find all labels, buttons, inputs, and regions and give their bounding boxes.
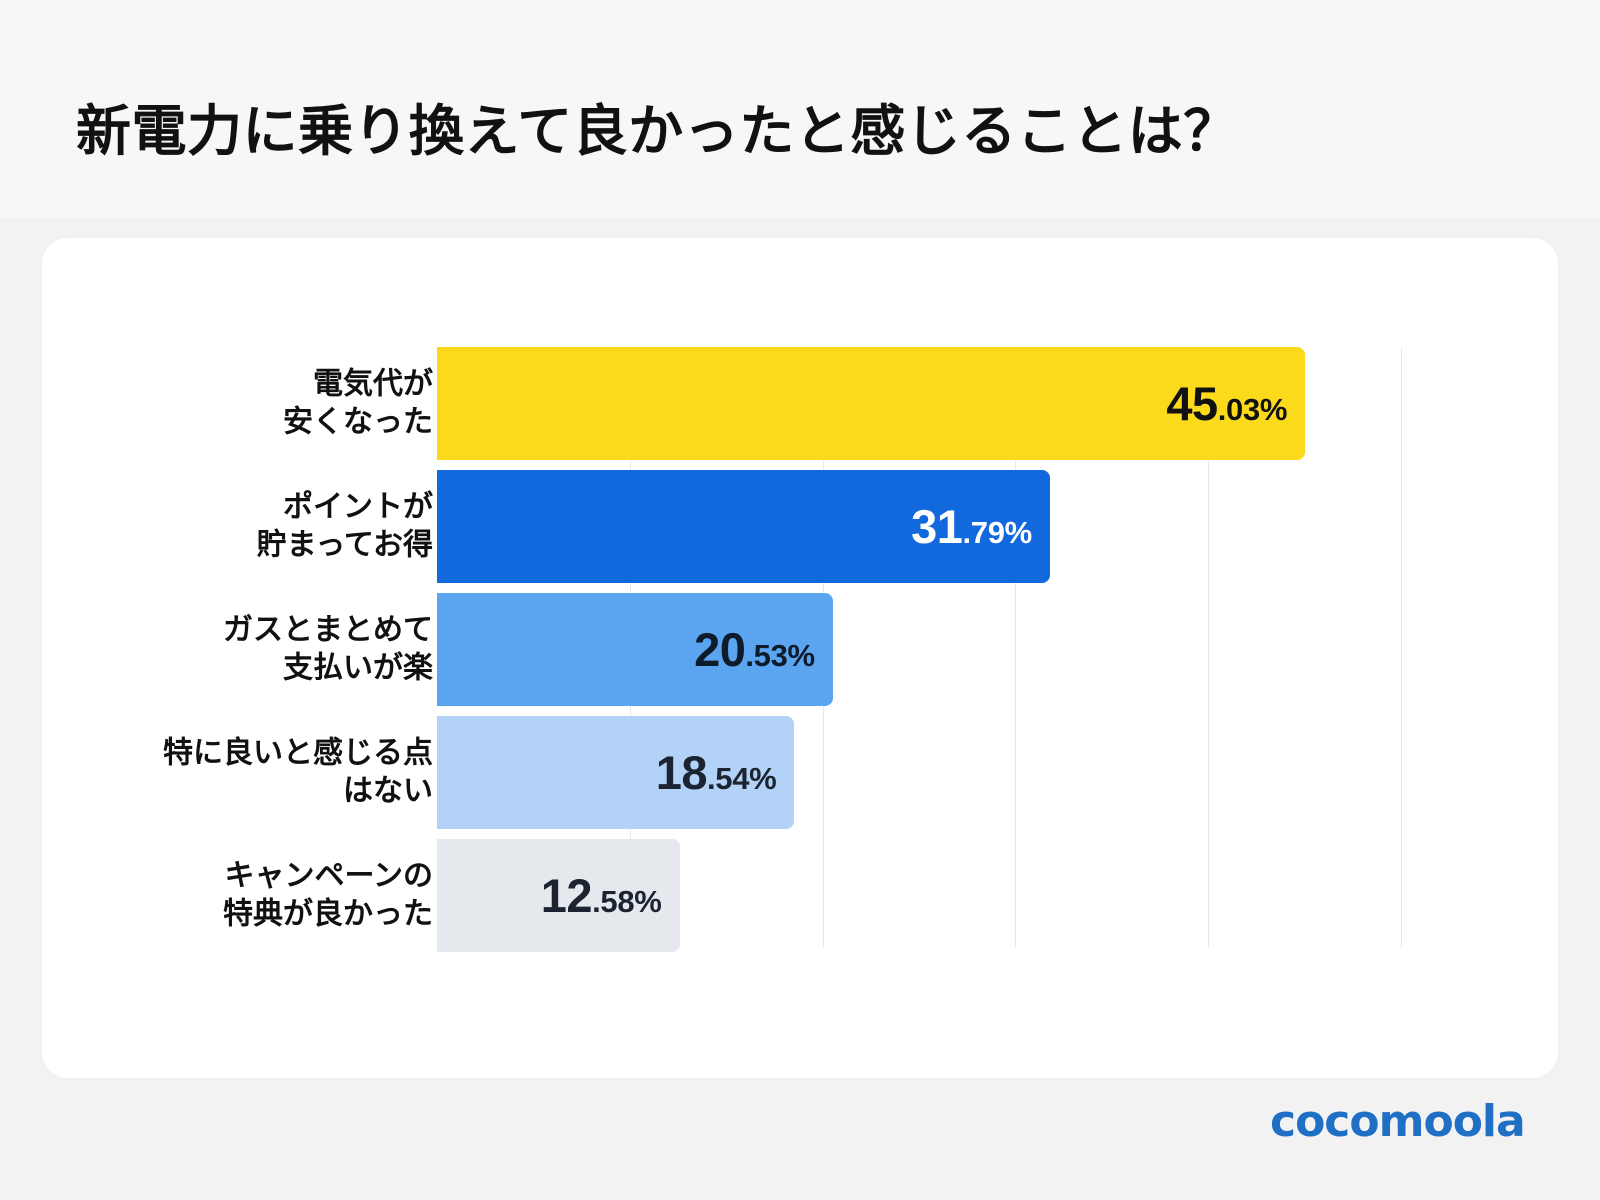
- brand-logo: cocomoola: [1270, 1096, 1525, 1147]
- bar-value-decimal: .58%: [592, 884, 661, 920]
- bar: 45.03%: [437, 347, 1305, 460]
- category-label: ポイントが 貯まってお得: [0, 488, 433, 565]
- bar-value-integer: 31: [911, 499, 962, 554]
- bar: 20.53%: [437, 593, 833, 706]
- category-label: キャンペーンの 特典が良かった: [0, 857, 433, 934]
- bar-value-label: 45.03%: [1166, 376, 1305, 431]
- bar-chart: 電気代が 安くなった45.03%ポイントが 貯まってお得31.79%ガスとまとめ…: [42, 238, 1558, 1078]
- bar-value-integer: 18: [656, 745, 707, 800]
- bar-value-integer: 12: [541, 868, 592, 923]
- bar-value-integer: 20: [694, 622, 745, 677]
- header-band: 新電力に乗り換えて良かったと感じることは？: [0, 0, 1600, 218]
- bar-row: キャンペーンの 特典が良かった12.58%: [42, 839, 1558, 952]
- bar-row: ポイントが 貯まってお得31.79%: [42, 470, 1558, 583]
- bar-value-label: 12.58%: [541, 868, 680, 923]
- bar: 12.58%: [437, 839, 680, 952]
- bar-value-integer: 45: [1166, 376, 1217, 431]
- bar-value-label: 20.53%: [694, 622, 833, 677]
- bar-value-decimal: .03%: [1218, 392, 1287, 428]
- category-label: ガスとまとめて 支払いが楽: [0, 611, 433, 688]
- category-label: 電気代が 安くなった: [0, 365, 433, 442]
- bar-row: 電気代が 安くなった45.03%: [42, 347, 1558, 460]
- chart-card: 電気代が 安くなった45.03%ポイントが 貯まってお得31.79%ガスとまとめ…: [42, 238, 1558, 1078]
- category-label: 特に良いと感じる点 はない: [0, 734, 433, 811]
- bar: 18.54%: [437, 716, 794, 829]
- bar: 31.79%: [437, 470, 1050, 583]
- bar-row: 特に良いと感じる点 はない18.54%: [42, 716, 1558, 829]
- bar-value-decimal: .53%: [745, 638, 814, 674]
- bar-value-decimal: .79%: [962, 515, 1031, 551]
- bar-row: ガスとまとめて 支払いが楽20.53%: [42, 593, 1558, 706]
- bar-value-label: 31.79%: [911, 499, 1050, 554]
- bar-value-label: 18.54%: [656, 745, 795, 800]
- bar-value-decimal: .54%: [707, 761, 776, 797]
- page-title: 新電力に乗り換えて良かったと感じることは？: [76, 86, 1239, 166]
